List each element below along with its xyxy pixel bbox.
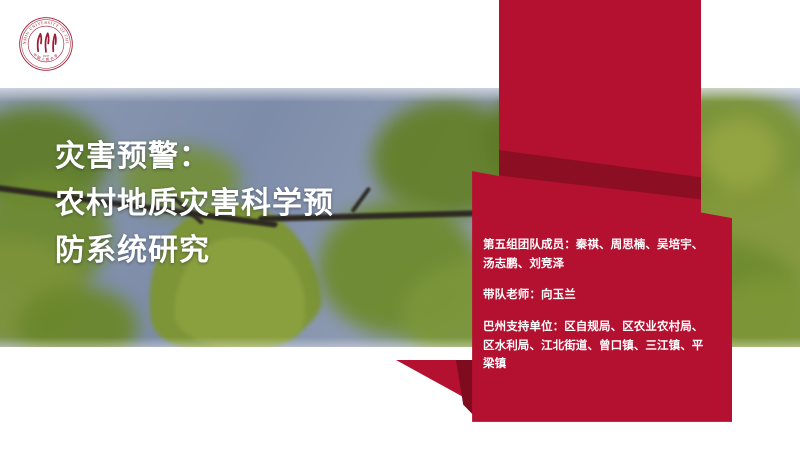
advisor-line: 带队老师：向玉兰 xyxy=(483,286,713,305)
svg-text:1937: 1937 xyxy=(43,54,50,58)
team-members-line: 第五组团队成员：秦祺、周思楠、吴培宇、汤志鹏、刘竞泽 xyxy=(483,236,713,273)
title-slide: 第五组团队成员：秦祺、周思楠、吴培宇、汤志鹏、刘竞泽 带队老师：向玉兰 巴州支持… xyxy=(0,0,800,450)
title-line-3: 防系统研究 xyxy=(55,228,455,275)
title-line-1: 灾害预警： xyxy=(55,134,455,181)
university-seal-icon: RENMIN UNIVERSITY OF CHINA 1937 中国人民大学 xyxy=(18,16,74,72)
university-logo: RENMIN UNIVERSITY OF CHINA 1937 中国人民大学 xyxy=(18,16,74,72)
slide-title: 灾害预警： 农村地质灾害科学预 防系统研究 xyxy=(55,134,455,274)
info-panel-text: 第五组团队成员：秦祺、周思楠、吴培宇、汤志鹏、刘竞泽 带队老师：向玉兰 巴州支持… xyxy=(483,236,713,374)
supporting-units-line: 巴州支持单位：区自规局、区农业农村局、区水利局、江北街道、曾口镇、三江镇、平梁镇 xyxy=(483,318,713,374)
title-line-2: 农村地质灾害科学预 xyxy=(55,181,455,228)
foliage-blob xyxy=(700,118,780,188)
